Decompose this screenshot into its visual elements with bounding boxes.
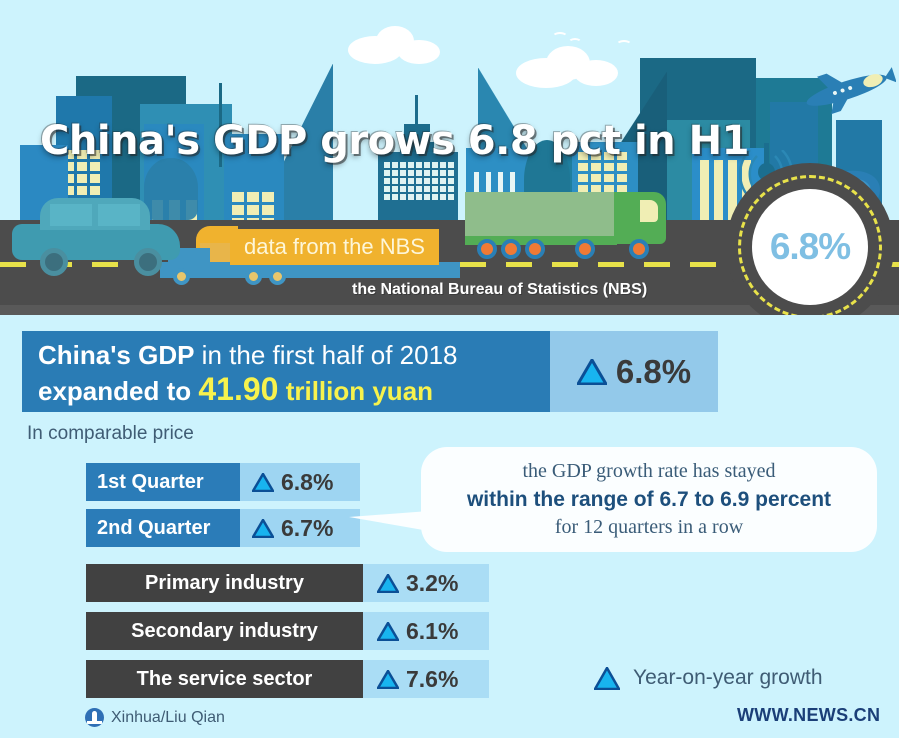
window-stripe (714, 160, 723, 220)
bubble-line-3: for 12 quarters in a row (555, 514, 743, 541)
truck-wheel (173, 268, 190, 285)
industry-value: 3.2% (406, 570, 458, 597)
industry-value: 6.1% (406, 618, 458, 645)
table-row: Secondary industry 6.1% (86, 612, 489, 650)
infographic-poster: 6.8% China's GDP grows 6.8 pct in H1 dat… (0, 0, 899, 738)
window-grid (384, 162, 454, 200)
bubble-line-1: the GDP growth rate has stayed (522, 458, 775, 485)
truck-wheel (501, 239, 521, 259)
tree-icon (144, 158, 198, 220)
triangle-up-icon (377, 574, 399, 593)
watermark: WWW.NEWS.CN (737, 705, 880, 726)
comparable-price-note: In comparable price (27, 423, 194, 445)
nbs-subtitle: the National Bureau of Statistics (NBS) (352, 281, 647, 299)
gdp-total-unit: trillion yuan (286, 376, 433, 406)
gdp-headline-banner: China's GDP in the first half of 2018 ex… (22, 331, 550, 412)
car-window (50, 204, 92, 226)
page-title: China's GDP grows 6.8 pct in H1 (40, 118, 749, 164)
banner-line-2: expanded to 41.90 trillion yuan (38, 372, 550, 408)
triangle-up-icon (594, 667, 620, 690)
industry-label: Secondary industry (86, 612, 363, 650)
triangle-up-icon (252, 473, 274, 492)
table-row: 1st Quarter 6.8% (86, 463, 360, 501)
industry-value-cell: 7.6% (363, 660, 489, 698)
gdp-growth-callout: 6.8% (550, 331, 718, 412)
airplane-icon (798, 62, 896, 114)
legend-label: Year-on-year growth (633, 666, 823, 690)
triangle-up-icon (252, 519, 274, 538)
industry-value: 7.6% (406, 666, 458, 693)
quarter-value-cell: 6.8% (240, 463, 360, 501)
window-stripe (700, 160, 709, 220)
hero-cityscape: 6.8% China's GDP grows 6.8 pct in H1 dat… (0, 0, 899, 315)
car-wheel (134, 248, 162, 276)
industry-value-cell: 6.1% (363, 612, 489, 650)
bird-icon (552, 32, 568, 42)
banner-line-1: China's GDP in the first half of 2018 (38, 338, 550, 372)
truck-wheel (477, 239, 497, 259)
banner-line-2-pre: expanded to (38, 376, 191, 406)
credit-text: Xinhua/Liu Qian (111, 709, 225, 727)
nbs-source-tag: data from the NBS (230, 229, 439, 265)
banner-line-1-rest: in the first half of 2018 (202, 340, 458, 370)
table-row: The service sector 7.6% (86, 660, 489, 698)
truck-wheel (629, 239, 649, 259)
bubble-line-2: within the range of 6.7 to 6.9 percent (467, 485, 831, 514)
truck-wheel (245, 268, 262, 285)
xinhua-logo-icon (85, 708, 104, 727)
legend: Year-on-year growth (594, 666, 823, 690)
banner-bold-lead: China's GDP (38, 340, 194, 370)
industry-label: The service sector (86, 660, 363, 698)
truck-wheel (269, 268, 286, 285)
truck-wheel (575, 239, 595, 259)
badge-value: 6.8% (770, 226, 850, 268)
triangle-up-icon (577, 359, 607, 385)
gdp-growth-value: 6.8% (616, 353, 691, 391)
car-window (98, 204, 140, 226)
table-row: Primary industry 3.2% (86, 564, 489, 602)
green-truck-window (640, 200, 658, 222)
gdp-total-value: 41.90 (198, 371, 278, 407)
industry-value-cell: 3.2% (363, 564, 489, 602)
quarter-value: 6.7% (281, 515, 333, 542)
badge-core: 6.8% (752, 189, 868, 305)
triangle-up-icon (377, 622, 399, 641)
truck-wheel (525, 239, 545, 259)
bird-icon (616, 40, 632, 50)
triangle-up-icon (377, 670, 399, 689)
speech-bubble-tail (349, 511, 429, 531)
quarter-value: 6.8% (281, 469, 333, 496)
quarter-value-cell: 6.7% (240, 509, 360, 547)
quarter-label: 2nd Quarter (86, 509, 240, 547)
cloud-icon (398, 40, 440, 64)
table-row: 2nd Quarter 6.7% (86, 509, 360, 547)
speech-bubble: the GDP growth rate has stayed within th… (421, 447, 877, 552)
car-wheel (40, 248, 68, 276)
credit-line: Xinhua/Liu Qian (85, 708, 225, 727)
industry-label: Primary industry (86, 564, 363, 602)
bird-icon (568, 38, 582, 47)
quarter-label: 1st Quarter (86, 463, 240, 501)
